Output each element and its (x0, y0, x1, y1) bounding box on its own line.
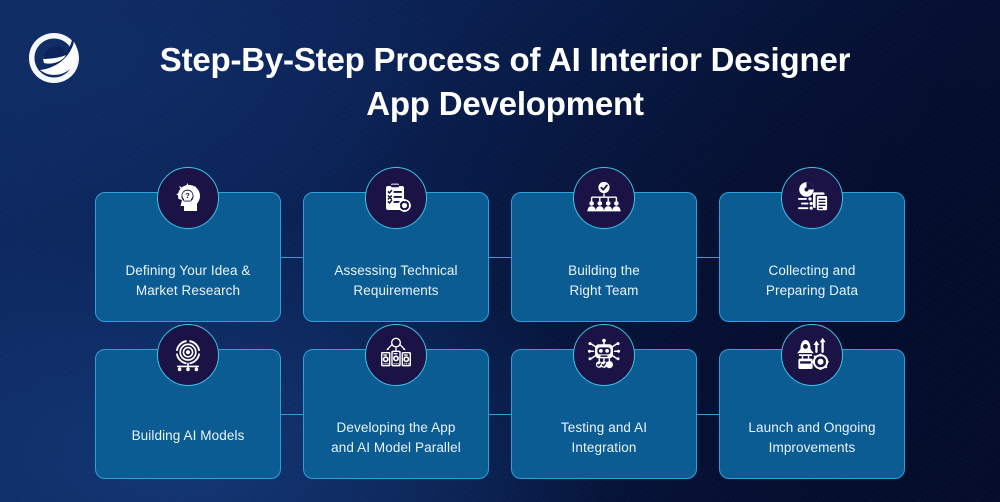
step-7-label-line-2: Integration (572, 440, 637, 455)
parallel-servers-node-icon (365, 324, 427, 386)
neural-gear-model-icon (157, 324, 219, 386)
process-steps-board: ? Defining Your Idea & Market Research (0, 0, 1000, 502)
step-6-label-line-1: Developing the App (337, 420, 456, 435)
robot-testing-check-icon (573, 324, 635, 386)
connector-step2-step3 (489, 257, 511, 258)
step-5-label-line-1: Building AI Models (132, 428, 245, 443)
step-card-8-label: Launch and Ongoing Improvements (728, 418, 896, 459)
connector-step1-step2 (281, 257, 303, 258)
step-card-4-label: Collecting and Preparing Data (728, 261, 896, 302)
step-card-2-label: Assessing Technical Requirements (312, 261, 480, 302)
connector-step6-step7 (489, 414, 511, 415)
step-card-1[interactable]: ? Defining Your Idea & Market Research (95, 192, 281, 322)
head-lightbulb-question-icon: ? (157, 167, 219, 229)
connector-step5-step6 (281, 414, 303, 415)
step-8-label-line-2: Improvements (769, 440, 856, 455)
step-4-label-line-2: Preparing Data (766, 283, 858, 298)
step-card-5[interactable]: Building AI Models (95, 349, 281, 479)
step-4-label-line-1: Collecting and (769, 263, 856, 278)
step-card-7-label: Testing and AI Integration (520, 418, 688, 459)
step-card-3-label: Building the Right Team (520, 261, 688, 302)
step-1-label-line-2: Market Research (136, 283, 240, 298)
rocket-launch-gear-arrows-icon (781, 324, 843, 386)
clipboard-checklist-gear-icon (365, 167, 427, 229)
step-8-label-line-1: Launch and Ongoing (748, 420, 875, 435)
step-card-1-label: Defining Your Idea & Market Research (104, 261, 272, 302)
connector-step3-step4 (697, 257, 719, 258)
team-hierarchy-check-icon (573, 167, 635, 229)
connector-step7-step8 (697, 414, 719, 415)
step-1-label-line-1: Defining Your Idea & (125, 263, 250, 278)
step-3-label-line-2: Right Team (569, 283, 638, 298)
svg-text:?: ? (185, 191, 190, 200)
step-7-label-line-1: Testing and AI (561, 420, 647, 435)
step-card-8[interactable]: Launch and Ongoing Improvements (719, 349, 905, 479)
step-card-2[interactable]: Assessing Technical Requirements (303, 192, 489, 322)
step-card-3[interactable]: Building the Right Team (511, 192, 697, 322)
step-card-6-label: Developing the App and AI Model Parallel (312, 418, 480, 459)
step-card-5-label: Building AI Models (104, 426, 272, 446)
step-2-label-line-2: Requirements (353, 283, 438, 298)
step-card-4[interactable]: Collecting and Preparing Data (719, 192, 905, 322)
pie-chart-documents-data-icon (781, 167, 843, 229)
step-6-label-line-2: and AI Model Parallel (331, 440, 461, 455)
step-2-label-line-1: Assessing Technical (334, 263, 457, 278)
step-3-label-line-1: Building the (568, 263, 640, 278)
step-card-7[interactable]: Testing and AI Integration (511, 349, 697, 479)
step-card-6[interactable]: Developing the App and AI Model Parallel (303, 349, 489, 479)
